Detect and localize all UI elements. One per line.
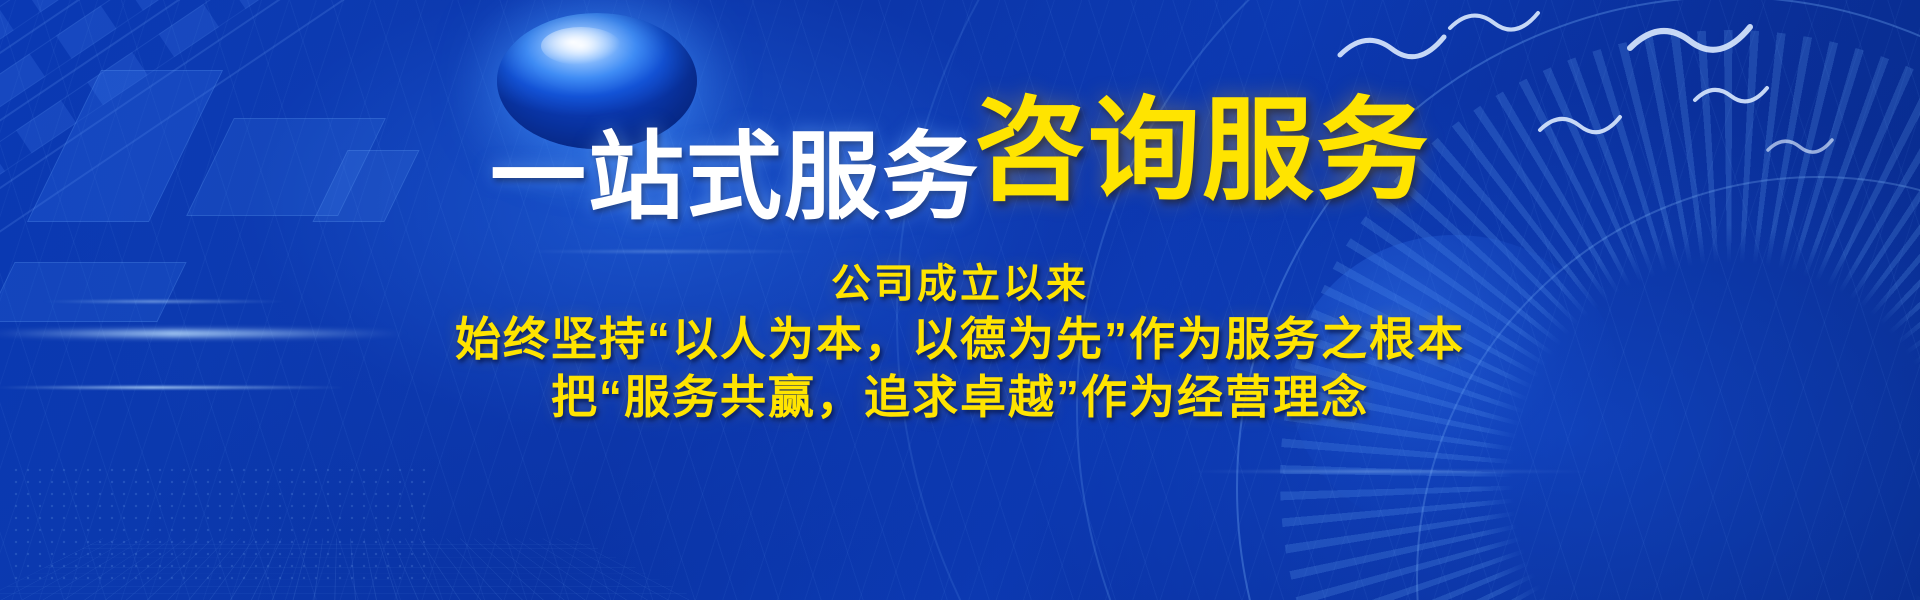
promo-banner: 一站式服务 咨询服务 公司成立以来 始终坚持“以人为本，以德为先”作为服务之根本… xyxy=(0,0,1920,600)
headline-row: 一站式服务 咨询服务 xyxy=(0,78,1920,208)
subtitle-block: 公司成立以来 始终坚持“以人为本，以德为先”作为服务之根本 把“服务共赢，追求卓… xyxy=(0,258,1920,426)
subtitle-line-2: 始终坚持“以人为本，以德为先”作为服务之根本 xyxy=(0,310,1920,368)
subtitle-line-3: 把“服务共赢，追求卓越”作为经营理念 xyxy=(0,368,1920,426)
headline-accent: 咨询服务 xyxy=(974,96,1430,208)
headline-primary: 一站式服务 xyxy=(490,130,980,226)
subtitle-line-1: 公司成立以来 xyxy=(0,258,1920,310)
banner-content: 一站式服务 咨询服务 公司成立以来 始终坚持“以人为本，以德为先”作为服务之根本… xyxy=(0,0,1920,600)
